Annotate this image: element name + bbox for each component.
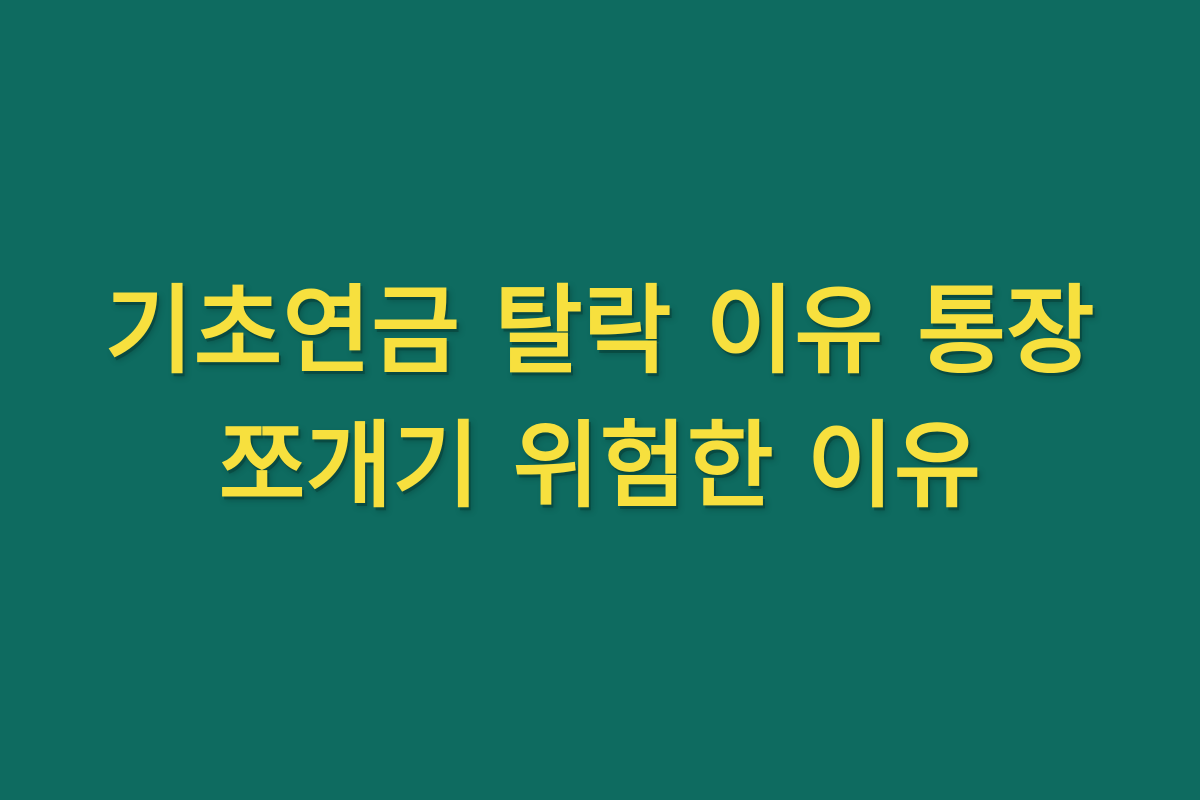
headline-block: 기초연금 탈락 이유 통장 쪼개기 위험한 이유 [40,263,1160,535]
headline-line-2: 쪼개기 위험한 이유 [40,399,1160,535]
thumbnail-canvas: 기초연금 탈락 이유 통장 쪼개기 위험한 이유 [0,0,1200,800]
headline-line-1: 기초연금 탈락 이유 통장 [40,263,1160,399]
